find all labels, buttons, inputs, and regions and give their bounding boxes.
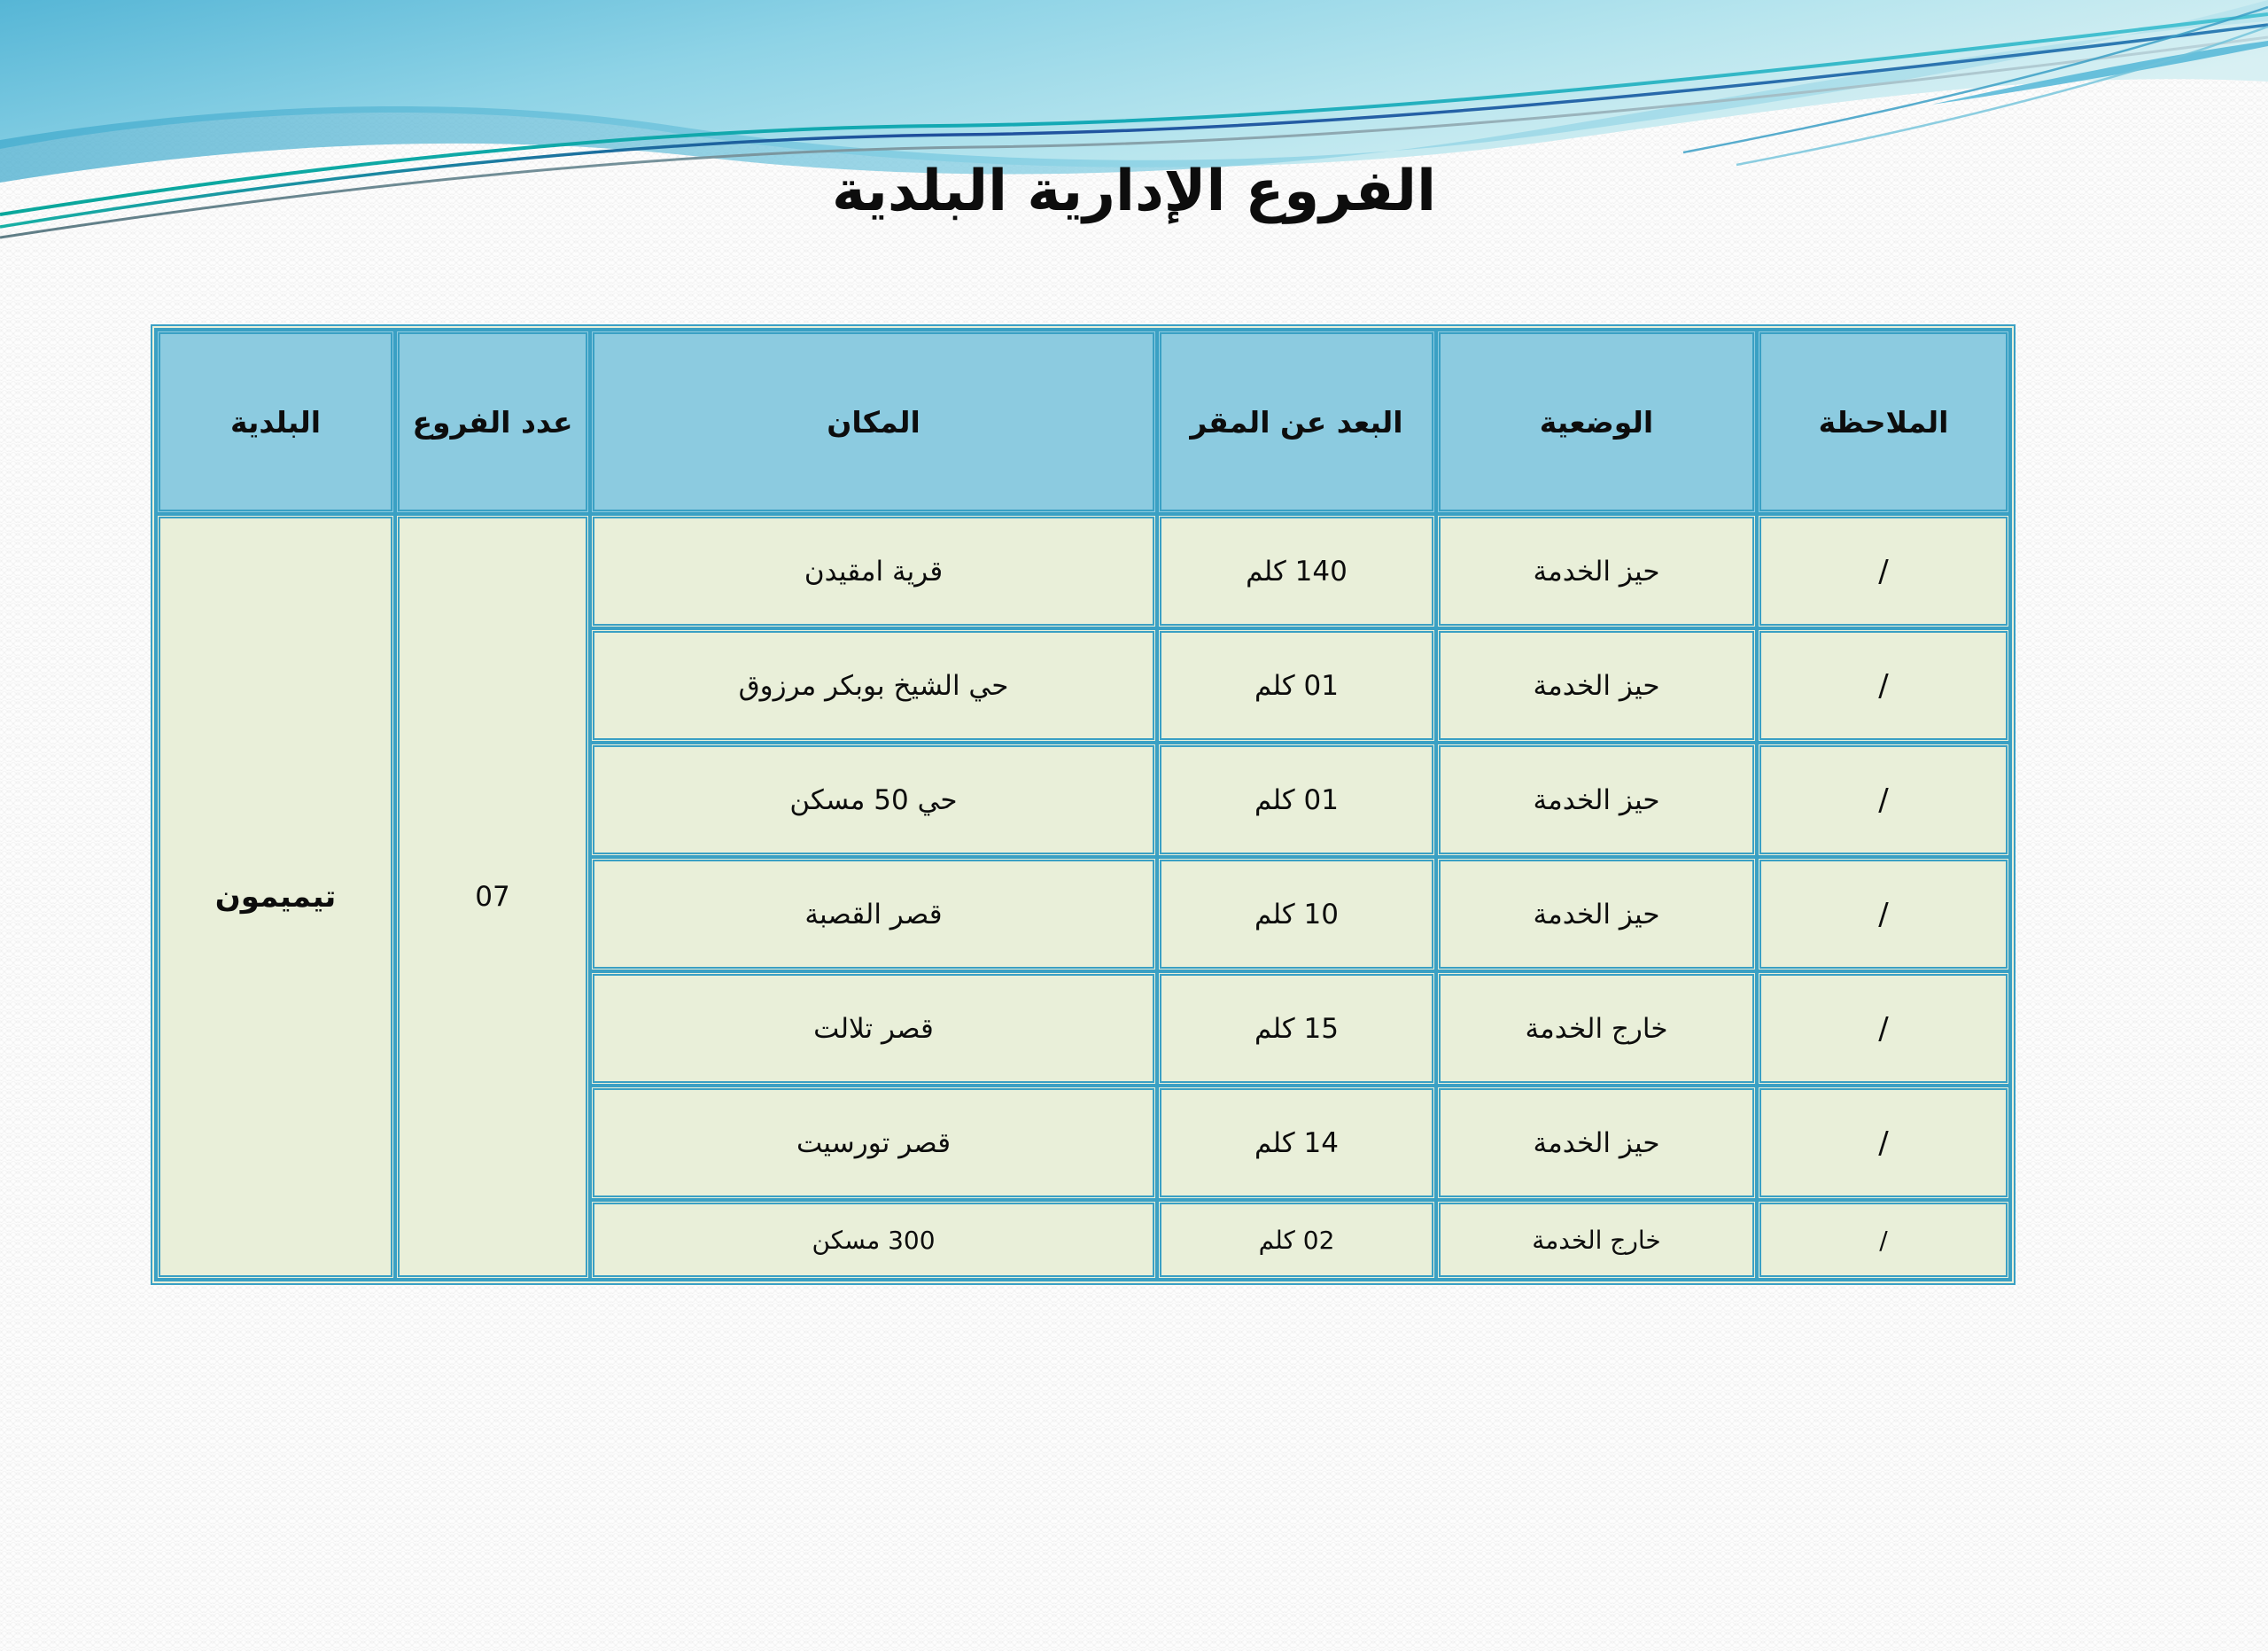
cell-note: /	[1757, 971, 2010, 1086]
cell-note: /	[1757, 743, 2010, 857]
cell-distance: 02 كلم	[1157, 1200, 1436, 1280]
cell-place: 300 مسكن	[590, 1200, 1157, 1280]
cell-place: قصر تلالت	[590, 971, 1157, 1086]
cell-distance: 01 كلم	[1157, 628, 1436, 743]
column-header-note: الملاحظة	[1757, 330, 2010, 514]
column-header-baladiya: البلدية	[156, 330, 395, 514]
cell-note: /	[1757, 514, 2010, 628]
cell-status: حيز الخدمة	[1436, 514, 1757, 628]
branches-table-container: الملاحظة الوضعية البعد عن المقر المكان ع…	[161, 324, 2016, 1285]
column-header-count: عدد الفروع	[395, 330, 590, 514]
cell-note: /	[1757, 1200, 2010, 1280]
cell-place: قصر تورسيت	[590, 1086, 1157, 1200]
cell-status: حيز الخدمة	[1436, 628, 1757, 743]
table-header-row: الملاحظة الوضعية البعد عن المقر المكان ع…	[156, 330, 2010, 514]
cell-note: /	[1757, 857, 2010, 971]
column-header-status: الوضعية	[1436, 330, 1757, 514]
administrative-branches-table: الملاحظة الوضعية البعد عن المقر المكان ع…	[151, 324, 2016, 1285]
cell-municipality: تيميمون	[156, 514, 395, 1280]
cell-distance: 14 كلم	[1157, 1086, 1436, 1200]
cell-distance: 10 كلم	[1157, 857, 1436, 971]
cell-branch-count: 07	[395, 514, 590, 1280]
cell-place: قرية امقيدن	[590, 514, 1157, 628]
column-header-place: المكان	[590, 330, 1157, 514]
cell-note: /	[1757, 628, 2010, 743]
table-row: / حيز الخدمة 140 كلم قرية امقيدن 07 تيمي…	[156, 514, 2010, 628]
cell-distance: 15 كلم	[1157, 971, 1436, 1086]
cell-place: حي 50 مسكن	[590, 743, 1157, 857]
table-body: / حيز الخدمة 140 كلم قرية امقيدن 07 تيمي…	[156, 514, 2010, 1280]
cell-status: حيز الخدمة	[1436, 743, 1757, 857]
cell-place: حي الشيخ بوبكر مرزوق	[590, 628, 1157, 743]
cell-distance: 01 كلم	[1157, 743, 1436, 857]
cell-place: قصر القصبة	[590, 857, 1157, 971]
cell-status: حيز الخدمة	[1436, 857, 1757, 971]
page-title: الفروع الإدارية البلدية	[0, 160, 2268, 225]
table-header: الملاحظة الوضعية البعد عن المقر المكان ع…	[156, 330, 2010, 514]
cell-distance: 140 كلم	[1157, 514, 1436, 628]
cell-status: خارج الخدمة	[1436, 971, 1757, 1086]
column-header-distance: البعد عن المقر	[1157, 330, 1436, 514]
cell-status: خارج الخدمة	[1436, 1200, 1757, 1280]
cell-status: حيز الخدمة	[1436, 1086, 1757, 1200]
cell-note: /	[1757, 1086, 2010, 1200]
